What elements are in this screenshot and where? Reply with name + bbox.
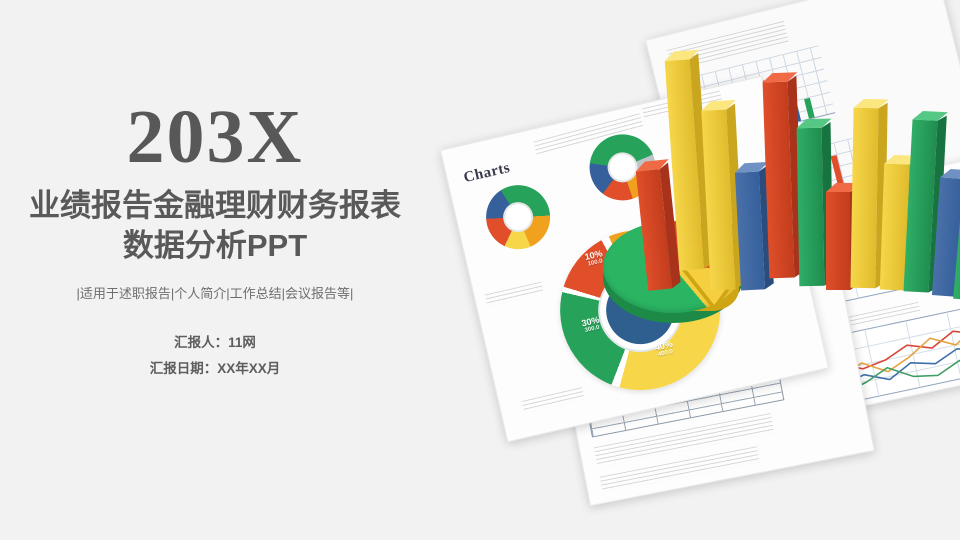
sheet-microtext — [485, 282, 544, 307]
page-title: 业绩报告金融理财财务报表 数据分析PPT — [0, 186, 430, 266]
presenter-meta: 汇报人：11网 汇报日期：XX年XX月 — [0, 330, 430, 382]
presenter-name: 汇报人：11网 — [0, 330, 430, 356]
title-line-2: 数据分析PPT — [0, 226, 430, 266]
charts-sheet-heading: Charts — [462, 160, 512, 187]
bar-3d — [826, 192, 850, 290]
finance-charts-photo: Charts 100% 1000.0 — [430, 0, 960, 540]
title-line-1: 业绩报告金融理财财务报表 — [29, 188, 401, 223]
sheet-microtext — [522, 387, 585, 413]
subtitle-usage-note: |适用于述职报告|个人简介|工作总结|会议报告等| — [0, 284, 430, 304]
bar-3d — [735, 171, 765, 290]
presentation-title-slide: Charts 100% 1000.0 — [0, 0, 960, 540]
bar-3d — [636, 169, 672, 291]
bar-3d — [797, 128, 825, 286]
title-text-block: 203X 业绩报告金融理财财务报表 数据分析PPT |适用于述职报告|个人简介|… — [0, 96, 430, 382]
bar-3d-group — [630, 20, 960, 340]
report-date: 汇报日期：XX年XX月 — [0, 356, 430, 382]
bar-3d — [904, 119, 938, 292]
year-heading: 203X — [0, 96, 430, 178]
bar-3d — [850, 108, 878, 288]
